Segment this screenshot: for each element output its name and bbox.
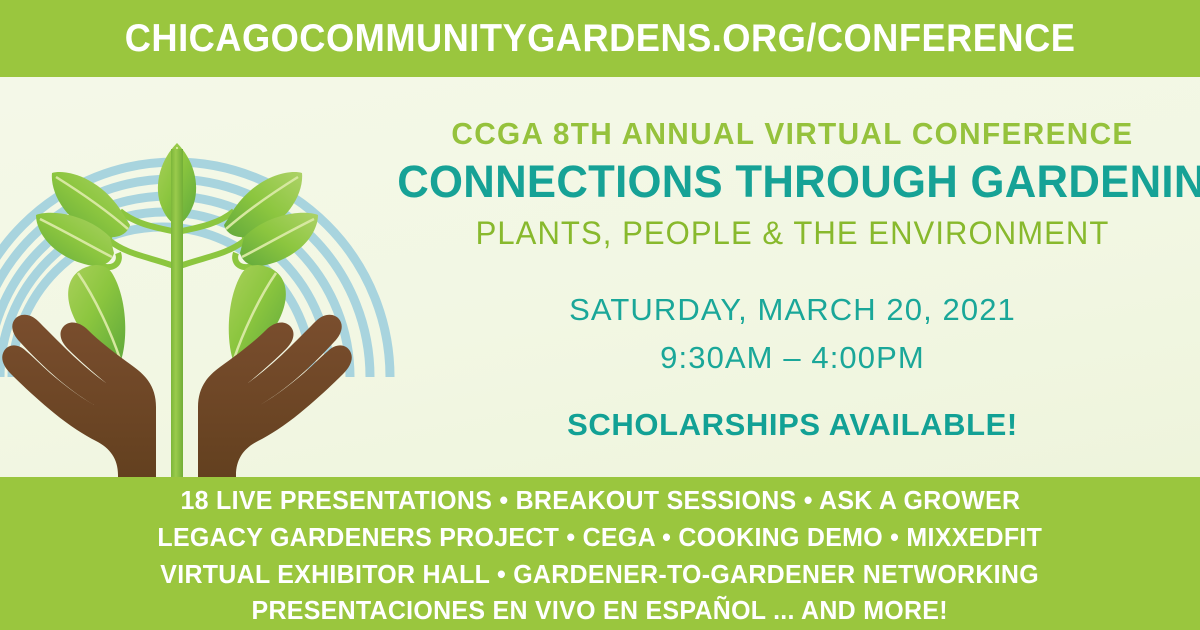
conference-time: 9:30AM – 4:00PM <box>385 340 1200 376</box>
conference-subheadline: PLANTS, PEOPLE & THE ENVIRONMENT <box>397 216 1188 251</box>
main-content-area: CCGA 8TH ANNUAL VIRTUAL CONFERENCE CONNE… <box>0 77 1200 477</box>
url-band: CHICAGOCOMMUNITYGARDENS.ORG/CONFERENCE <box>0 0 1200 77</box>
conference-url[interactable]: CHICAGOCOMMUNITYGARDENS.ORG/CONFERENCE <box>125 17 1076 61</box>
program-line: VIRTUAL EXHIBITOR HALL • GARDENER-TO-GAR… <box>161 556 1040 593</box>
conference-date: SATURDAY, MARCH 20, 2021 <box>385 292 1200 328</box>
conference-kicker: CCGA 8TH ANNUAL VIRTUAL CONFERENCE <box>401 117 1183 151</box>
conference-text-block: CCGA 8TH ANNUAL VIRTUAL CONFERENCE CONNE… <box>385 77 1200 477</box>
program-line: PRESENTACIONES EN VIVO EN ESPAÑOL ... AN… <box>252 592 948 629</box>
program-highlights-band: 18 LIVE PRESENTATIONS • BREAKOUT SESSION… <box>0 477 1200 630</box>
scholarships-callout: SCHOLARSHIPS AVAILABLE! <box>385 407 1200 443</box>
conference-promo-banner: CHICAGOCOMMUNITYGARDENS.ORG/CONFERENCE <box>0 0 1200 630</box>
program-line: LEGACY GARDENERS PROJECT • CEGA • COOKIN… <box>158 519 1043 556</box>
program-line: 18 LIVE PRESENTATIONS • BREAKOUT SESSION… <box>180 482 1020 519</box>
hands-holding-plant-icon <box>0 77 400 477</box>
conference-headline: CONNECTIONS THROUGH GARDENING <box>397 157 1188 207</box>
plant-stem-front <box>171 149 183 477</box>
